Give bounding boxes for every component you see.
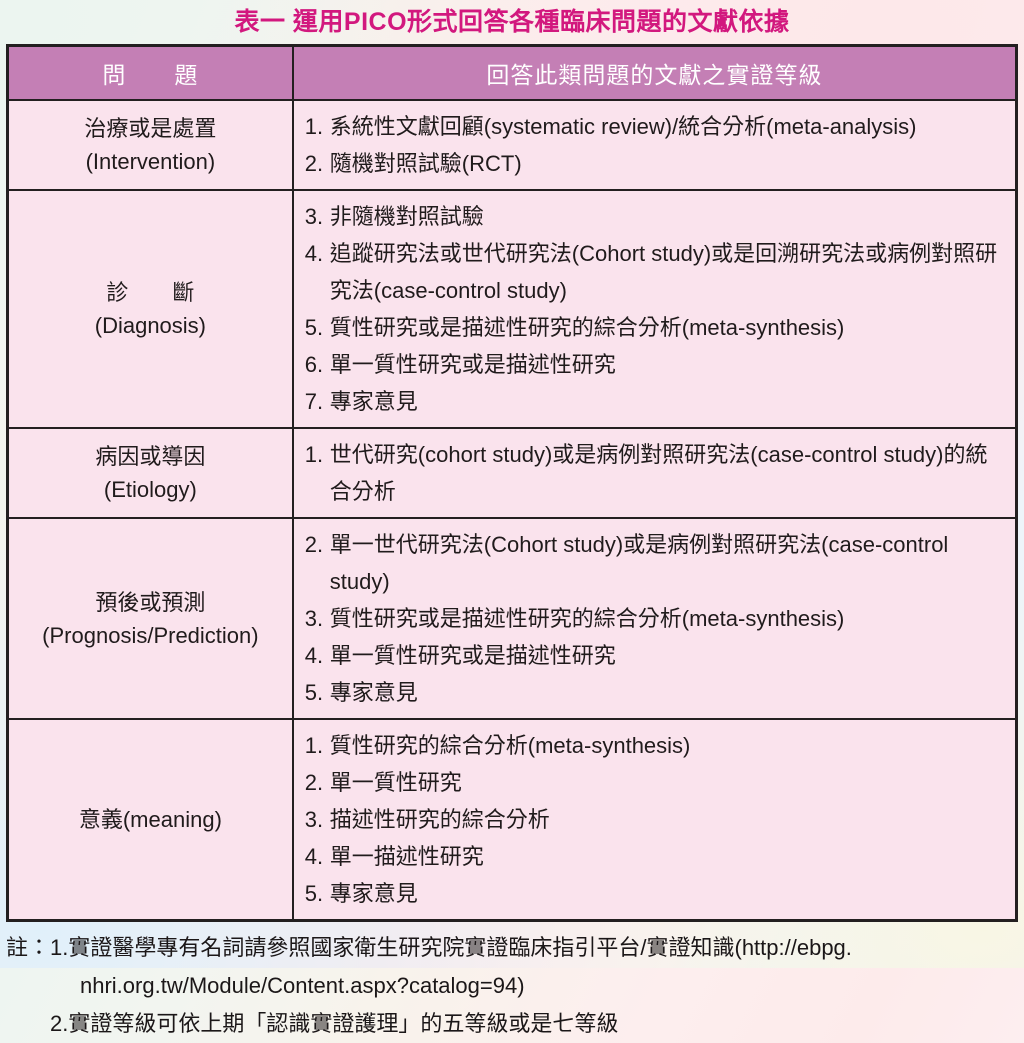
answer-list: 2.單一世代研究法(Cohort study)或是病例對照研究法(case-co…: [305, 526, 1007, 711]
question-label-en: (Prognosis/Prediction): [13, 619, 288, 652]
table-header: 問 題 回答此類問題的文獻之實證等級: [8, 46, 1017, 101]
question-label-zh: 預後或預測: [13, 586, 288, 619]
list-item: 6.單一質性研究或是描述性研究: [305, 346, 1007, 383]
footnote-label: 註：: [6, 929, 50, 967]
footnote-text: 實證等級可依上期「認識實證護理」的五等級或是七等級: [68, 1005, 1018, 1043]
list-item-text: 隨機對照試驗(RCT): [330, 151, 522, 176]
question-label-en: (Intervention): [13, 145, 288, 178]
list-item-text: 單一質性研究或是描述性研究: [330, 352, 616, 377]
list-item: 5.專家意見: [305, 875, 1007, 912]
list-item-text: 單一質性研究或是描述性研究: [330, 643, 616, 668]
list-item-text: 專家意見: [330, 680, 418, 705]
list-item-number: 1.: [305, 108, 323, 145]
answer-list: 1.世代研究(cohort study)或是病例對照研究法(case-contr…: [305, 436, 1007, 510]
list-item-text: 專家意見: [330, 389, 418, 414]
table-row: 治療或是處置 (Intervention) 1.系統性文獻回顧(systemat…: [8, 100, 1017, 190]
question-label-zh: 診 斷: [13, 276, 288, 309]
list-item-number: 4.: [305, 838, 323, 875]
question-cell-prognosis: 預後或預測 (Prognosis/Prediction): [8, 518, 293, 719]
list-item-number: 3.: [305, 600, 323, 637]
question-label-en: (Diagnosis): [13, 309, 288, 342]
list-item-text: 單一質性研究: [330, 770, 462, 795]
footnotes: 註： 1. 實證醫學專有名詞請參照國家衛生研究院實證臨床指引平台/實證知識(ht…: [6, 929, 1018, 1043]
list-item-text: 世代研究(cohort study)或是病例對照研究法(case-control…: [330, 442, 988, 504]
question-label-zh: 病因或導因: [13, 440, 288, 473]
list-item-text: 追蹤研究法或世代研究法(Cohort study)或是回溯研究法或病例對照研究法…: [330, 241, 997, 303]
page-title: 表一 運用PICO形式回答各種臨床問題的文獻依據: [0, 0, 1024, 44]
list-item-text: 質性研究或是描述性研究的綜合分析(meta-synthesis): [330, 315, 845, 340]
table-header-row: 問 題 回答此類問題的文獻之實證等級: [8, 46, 1017, 101]
list-item: 1.質性研究的綜合分析(meta-synthesis): [305, 727, 1007, 764]
list-item-text: 描述性研究的綜合分析: [330, 807, 550, 832]
list-item: 5.質性研究或是描述性研究的綜合分析(meta-synthesis): [305, 309, 1007, 346]
list-item-number: 3.: [305, 198, 323, 235]
answer-list: 1.質性研究的綜合分析(meta-synthesis) 2.單一質性研究 3.描…: [305, 727, 1007, 912]
list-item: 7.專家意見: [305, 383, 1007, 420]
list-item-text: 質性研究的綜合分析(meta-synthesis): [330, 733, 691, 758]
footnote-text-continued: nhri.org.tw/Module/Content.aspx?catalog=…: [6, 967, 1018, 1005]
list-item: 4.追蹤研究法或世代研究法(Cohort study)或是回溯研究法或病例對照研…: [305, 235, 1007, 309]
header-question: 問 題: [8, 46, 293, 101]
question-label-en: (Etiology): [13, 473, 288, 506]
answer-cell-intervention: 1.系統性文獻回顧(systematic review)/統合分析(meta-a…: [293, 100, 1017, 190]
list-item: 2.隨機對照試驗(RCT): [305, 145, 1007, 182]
list-item-number: 3.: [305, 801, 323, 838]
answer-cell-diagnosis: 3.非隨機對照試驗 4.追蹤研究法或世代研究法(Cohort study)或是回…: [293, 190, 1017, 428]
table-row: 意義(meaning) 1.質性研究的綜合分析(meta-synthesis) …: [8, 719, 1017, 921]
answer-list: 1.系統性文獻回顧(systematic review)/統合分析(meta-a…: [305, 108, 1007, 182]
page-root: 表一 運用PICO形式回答各種臨床問題的文獻依據 問 題 回答此類問題的文獻之實…: [0, 0, 1024, 968]
list-item-number: 6.: [305, 346, 323, 383]
header-evidence: 回答此類問題的文獻之實證等級: [293, 46, 1017, 101]
list-item-number: 5.: [305, 674, 323, 711]
list-item-text: 專家意見: [330, 881, 418, 906]
footnote-number: 2.: [50, 1005, 68, 1043]
footnote-number: 1.: [50, 929, 68, 967]
list-item: 2.單一質性研究: [305, 764, 1007, 801]
question-label-zh: 治療或是處置: [13, 112, 288, 145]
table-row: 病因或導因 (Etiology) 1.世代研究(cohort study)或是病…: [8, 428, 1017, 518]
list-item-number: 1.: [305, 436, 323, 473]
list-item: 1.世代研究(cohort study)或是病例對照研究法(case-contr…: [305, 436, 1007, 510]
list-item-text: 質性研究或是描述性研究的綜合分析(meta-synthesis): [330, 606, 845, 631]
table-row: 診 斷 (Diagnosis) 3.非隨機對照試驗 4.追蹤研究法或世代研究法(…: [8, 190, 1017, 428]
list-item: 4.單一描述性研究: [305, 838, 1007, 875]
table-body: 治療或是處置 (Intervention) 1.系統性文獻回顧(systemat…: [8, 100, 1017, 921]
list-item-number: 2.: [305, 526, 323, 563]
footnote-text: 實證醫學專有名詞請參照國家衛生研究院實證臨床指引平台/實證知識(http://e…: [68, 929, 1018, 967]
list-item: 3.非隨機對照試驗: [305, 198, 1007, 235]
question-cell-diagnosis: 診 斷 (Diagnosis): [8, 190, 293, 428]
list-item-number: 2.: [305, 764, 323, 801]
evidence-table: 問 題 回答此類問題的文獻之實證等級 治療或是處置 (Intervention)…: [6, 44, 1018, 922]
list-item: 3.描述性研究的綜合分析: [305, 801, 1007, 838]
list-item-number: 5.: [305, 875, 323, 912]
question-cell-meaning: 意義(meaning): [8, 719, 293, 921]
list-item-number: 4.: [305, 637, 323, 674]
answer-cell-meaning: 1.質性研究的綜合分析(meta-synthesis) 2.單一質性研究 3.描…: [293, 719, 1017, 921]
question-cell-etiology: 病因或導因 (Etiology): [8, 428, 293, 518]
list-item: 1.系統性文獻回顧(systematic review)/統合分析(meta-a…: [305, 108, 1007, 145]
question-cell-intervention: 治療或是處置 (Intervention): [8, 100, 293, 190]
question-label-zh: 意義(meaning): [13, 803, 288, 836]
list-item-text: 非隨機對照試驗: [330, 204, 484, 229]
list-item-number: 7.: [305, 383, 323, 420]
answer-list: 3.非隨機對照試驗 4.追蹤研究法或世代研究法(Cohort study)或是回…: [305, 198, 1007, 420]
list-item: 4.單一質性研究或是描述性研究: [305, 637, 1007, 674]
list-item: 2.單一世代研究法(Cohort study)或是病例對照研究法(case-co…: [305, 526, 1007, 600]
list-item-text: 單一世代研究法(Cohort study)或是病例對照研究法(case-cont…: [330, 532, 949, 594]
list-item-number: 1.: [305, 727, 323, 764]
table-row: 預後或預測 (Prognosis/Prediction) 2.單一世代研究法(C…: [8, 518, 1017, 719]
answer-cell-etiology: 1.世代研究(cohort study)或是病例對照研究法(case-contr…: [293, 428, 1017, 518]
list-item-number: 4.: [305, 235, 323, 272]
answer-cell-prognosis: 2.單一世代研究法(Cohort study)或是病例對照研究法(case-co…: [293, 518, 1017, 719]
footnote-item-2: 註： 2. 實證等級可依上期「認識實證護理」的五等級或是七等級: [6, 1005, 1018, 1043]
list-item-text: 單一描述性研究: [330, 844, 484, 869]
list-item: 5.專家意見: [305, 674, 1007, 711]
list-item: 3.質性研究或是描述性研究的綜合分析(meta-synthesis): [305, 600, 1007, 637]
list-item-number: 5.: [305, 309, 323, 346]
footnote-item-1: 註： 1. 實證醫學專有名詞請參照國家衛生研究院實證臨床指引平台/實證知識(ht…: [6, 929, 1018, 967]
list-item-number: 2.: [305, 145, 323, 182]
list-item-text: 系統性文獻回顧(systematic review)/統合分析(meta-ana…: [330, 114, 917, 139]
